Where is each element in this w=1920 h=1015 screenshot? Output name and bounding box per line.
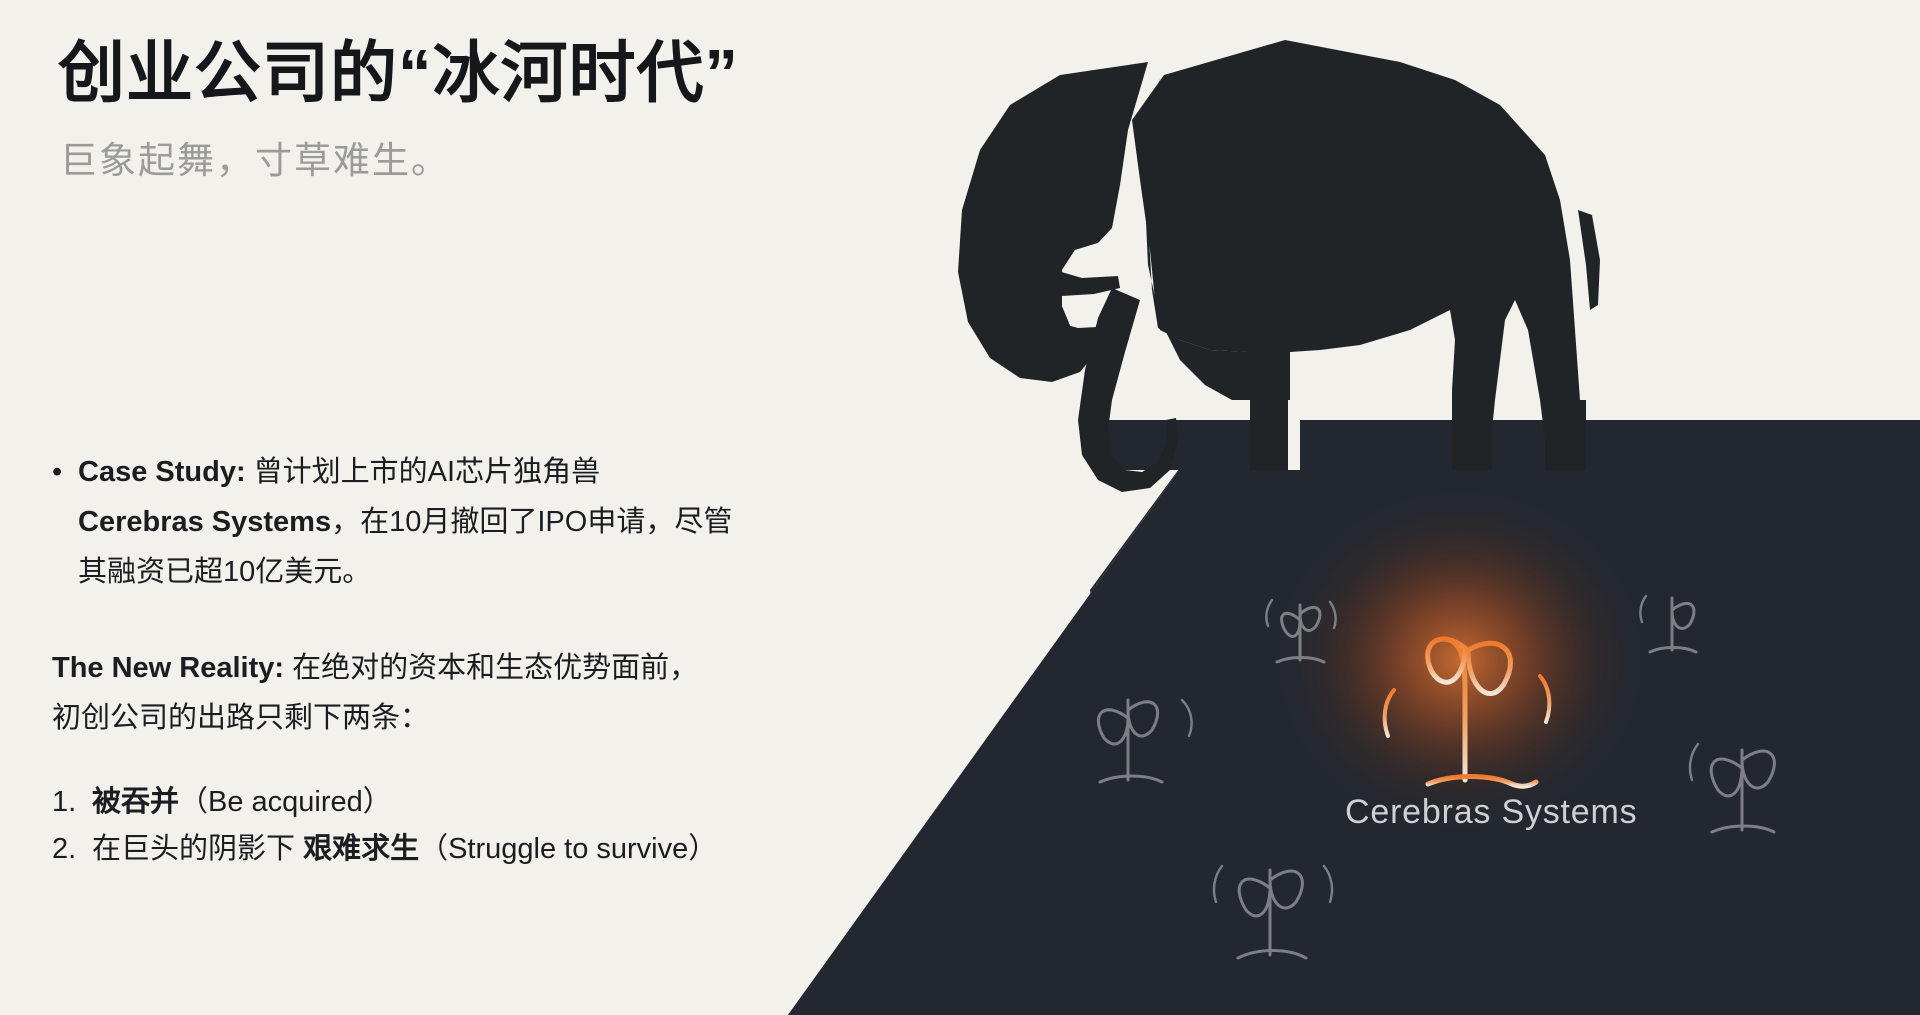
shadow-cone [788, 420, 1920, 1015]
sprout-icon [1266, 600, 1335, 662]
option-bold: 被吞并 [92, 786, 179, 818]
case-study-line-1: Case Study: 曾计划上市的AI芯片独角兽 [78, 447, 752, 497]
option-bold: 艰难求生 [303, 833, 419, 865]
sprout-glow-halo [1270, 485, 1650, 835]
cerebras-shadow-label: Cerebras Systems [1345, 793, 1637, 832]
list-item: 1. 被吞并（Be acquired） [52, 779, 752, 826]
new-reality-block: The New Reality: 在绝对的资本和生态优势面前， 初创公司的出路只… [52, 643, 752, 743]
case-study-line-2: Cerebras Systems，在10月撤回了IPO申请，尽管 [78, 497, 752, 547]
option-suffix: （Struggle to survive） [419, 833, 717, 865]
option-prefix: 在巨头的阴影下 [92, 833, 303, 865]
case-study-line-3: 其融资已超10亿美元。 [78, 547, 752, 597]
new-reality-line-1-rest: 在绝对的资本和生态优势面前， [284, 652, 698, 684]
slide-root: 创业公司的“冰河时代” 巨象起舞，寸草难生。 • Case Study: 曾计划… [0, 0, 1920, 1015]
cliff-plateau [1085, 420, 1920, 470]
new-reality-line-2: 初创公司的出路只剩下两条： [52, 693, 752, 743]
elephant-silhouette [958, 40, 1600, 492]
withered-sprouts [1098, 596, 1774, 958]
body-content: • Case Study: 曾计划上市的AI芯片独角兽 Cerebras Sys… [52, 447, 752, 873]
case-study-label: Case Study: [78, 456, 246, 488]
sprout-icon [1690, 744, 1774, 832]
case-study-line-2-rest: ，在10月撤回了IPO申请，尽管 [331, 506, 732, 538]
option-number: 1. [52, 779, 92, 826]
option-suffix: （Be acquired） [179, 786, 392, 818]
bullet-dot-icon: • [52, 447, 78, 497]
sprout-icon [1640, 596, 1696, 652]
new-reality-line-1: The New Reality: 在绝对的资本和生态优势面前， [52, 643, 752, 693]
page-title: 创业公司的“冰河时代” [58, 36, 739, 111]
page-subtitle: 巨象起舞，寸草难生。 [60, 137, 450, 185]
text-column: 创业公司的“冰河时代” 巨象起舞，寸草难生。 • Case Study: 曾计划… [0, 0, 880, 1015]
new-reality-label: The New Reality: [52, 652, 284, 684]
case-study-line-1-rest: 曾计划上市的AI芯片独角兽 [246, 456, 600, 488]
sprout-icon [1214, 866, 1332, 958]
case-study-body: Case Study: 曾计划上市的AI芯片独角兽 Cerebras Syste… [78, 447, 752, 597]
options-list: 1. 被吞并（Be acquired） 2. 在巨头的阴影下 艰难求生（Stru… [52, 779, 752, 873]
list-item: 2. 在巨头的阴影下 艰难求生（Struggle to survive） [52, 826, 752, 873]
glowing-sprout [1385, 639, 1550, 786]
option-text: 被吞并（Be acquired） [92, 779, 752, 826]
cerebras-company-name: Cerebras Systems [78, 506, 331, 538]
sprout-icon [1098, 700, 1191, 782]
option-number: 2. [52, 826, 92, 873]
case-study-bullet: • Case Study: 曾计划上市的AI芯片独角兽 Cerebras Sys… [52, 447, 752, 597]
option-text: 在巨头的阴影下 艰难求生（Struggle to survive） [92, 826, 752, 873]
